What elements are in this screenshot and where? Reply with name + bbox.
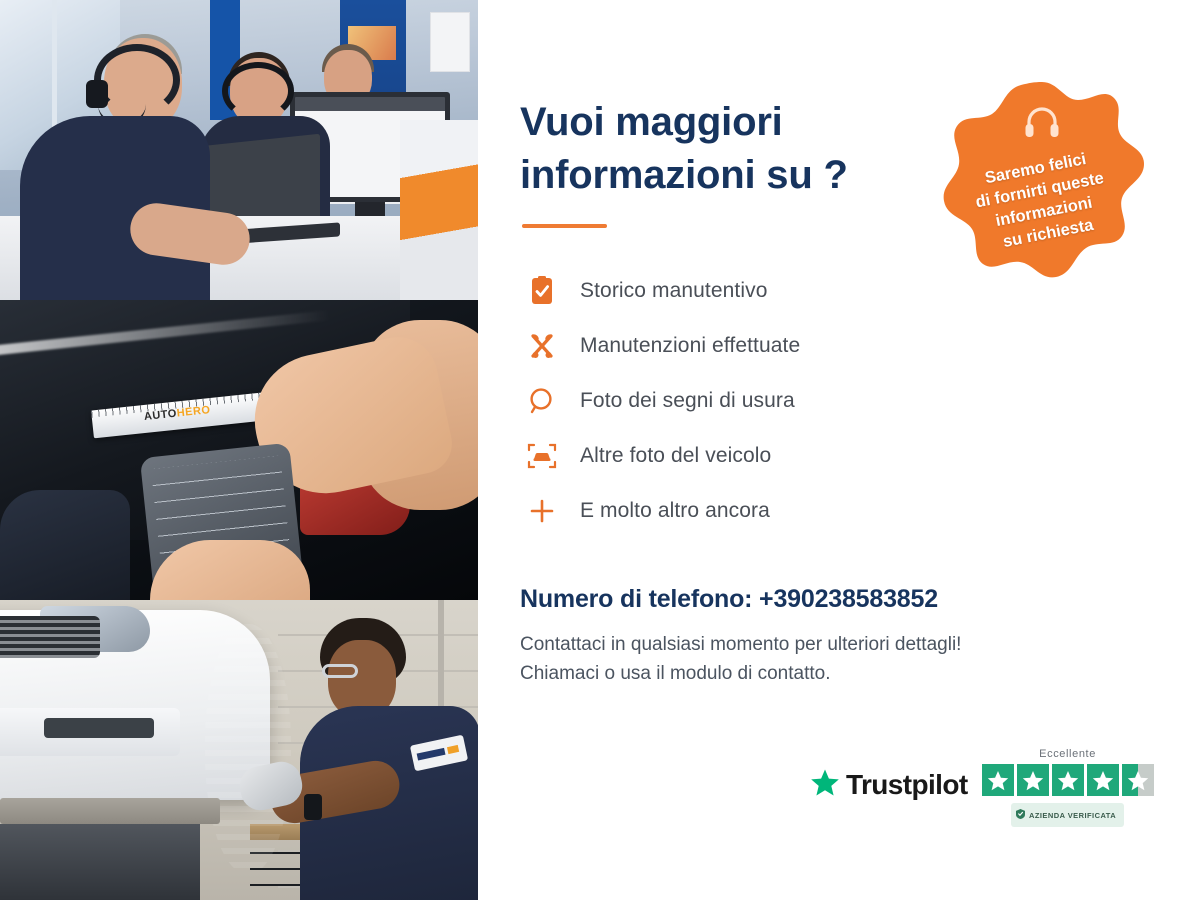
list-item: Manutenzioni effettuate <box>520 319 1180 374</box>
contact-line-1: Contattaci in qualsiasi momento per ulte… <box>520 634 961 655</box>
promo-badge: Saremo felici di fornirti queste informa… <box>938 78 1146 300</box>
trustpilot-brand: Trustpilot <box>846 769 968 801</box>
feature-label: Manutenzioni effettuate <box>564 334 800 358</box>
list-item: E molto altro ancora <box>520 484 1180 539</box>
autohero-logo-text-a: AUTO <box>143 408 177 423</box>
clipboard-check-icon <box>520 276 564 306</box>
feature-label: Altre foto del veicolo <box>564 444 771 468</box>
promo-page: AUTOHERO <box>0 0 1200 900</box>
page-title: Vuoi maggiori informazioni su ? <box>520 96 950 202</box>
call-center-photo <box>0 0 478 300</box>
equipment-decor <box>400 120 478 300</box>
foreground-agent <box>20 38 200 300</box>
photo-column: AUTOHERO <box>0 0 478 900</box>
headline-line-1: Vuoi maggiori <box>520 100 783 144</box>
contact-block: Numero di telefono: +390238583852 Contat… <box>520 585 1180 689</box>
feature-label: Foto dei segni di usura <box>564 389 795 413</box>
phone-number[interactable]: Numero di telefono: +390238583852 <box>520 585 1180 614</box>
contact-line-2: Chiamaci o usa il modulo di contatto. <box>520 663 831 684</box>
contact-description: Contattaci in qualsiasi momento per ulte… <box>520 630 1180 689</box>
magnifier-icon <box>520 387 564 415</box>
shield-check-icon <box>1016 806 1025 824</box>
star-icon <box>982 764 1014 796</box>
trustpilot-logo[interactable]: Trustpilot <box>810 768 968 802</box>
inspection-photo: AUTOHERO <box>0 300 478 600</box>
wheel-decor <box>205 624 291 874</box>
wall-notice-decor <box>430 12 470 72</box>
status-badge: AZIENDA VERIFICATA <box>1011 803 1124 827</box>
car-scan-icon <box>520 442 564 470</box>
autohero-logo-text-b: HERO <box>176 404 211 419</box>
star-icon <box>1087 764 1119 796</box>
feature-label: E molto altro ancora <box>564 499 770 523</box>
feature-label: Storico manutentivo <box>564 279 768 303</box>
tools-icon <box>520 331 564 361</box>
headline-line-2: informazioni su ? <box>520 153 848 197</box>
feature-list: Storico manutentivo Manutenzi <box>520 264 1180 539</box>
rating-word: Eccellente <box>1039 748 1096 760</box>
star-icon <box>1052 764 1084 796</box>
list-item: Altre foto del veicolo <box>520 429 1180 484</box>
star-rating <box>982 764 1154 796</box>
star-icon <box>1017 764 1049 796</box>
plus-icon <box>520 497 564 525</box>
verified-label: AZIENDA VERIFICATA <box>1029 811 1116 820</box>
trustpilot-widget[interactable]: Trustpilot Eccellente <box>810 748 1154 827</box>
headset-icon <box>1022 104 1062 147</box>
garage-photo <box>0 600 478 900</box>
list-item: Foto dei segni di usura <box>520 374 1180 429</box>
trustpilot-rating: Eccellente <box>982 748 1154 827</box>
star-icon-half <box>1122 764 1154 796</box>
title-underline <box>522 224 607 228</box>
mechanic-figure <box>300 618 478 900</box>
trustpilot-star-icon <box>810 768 840 802</box>
